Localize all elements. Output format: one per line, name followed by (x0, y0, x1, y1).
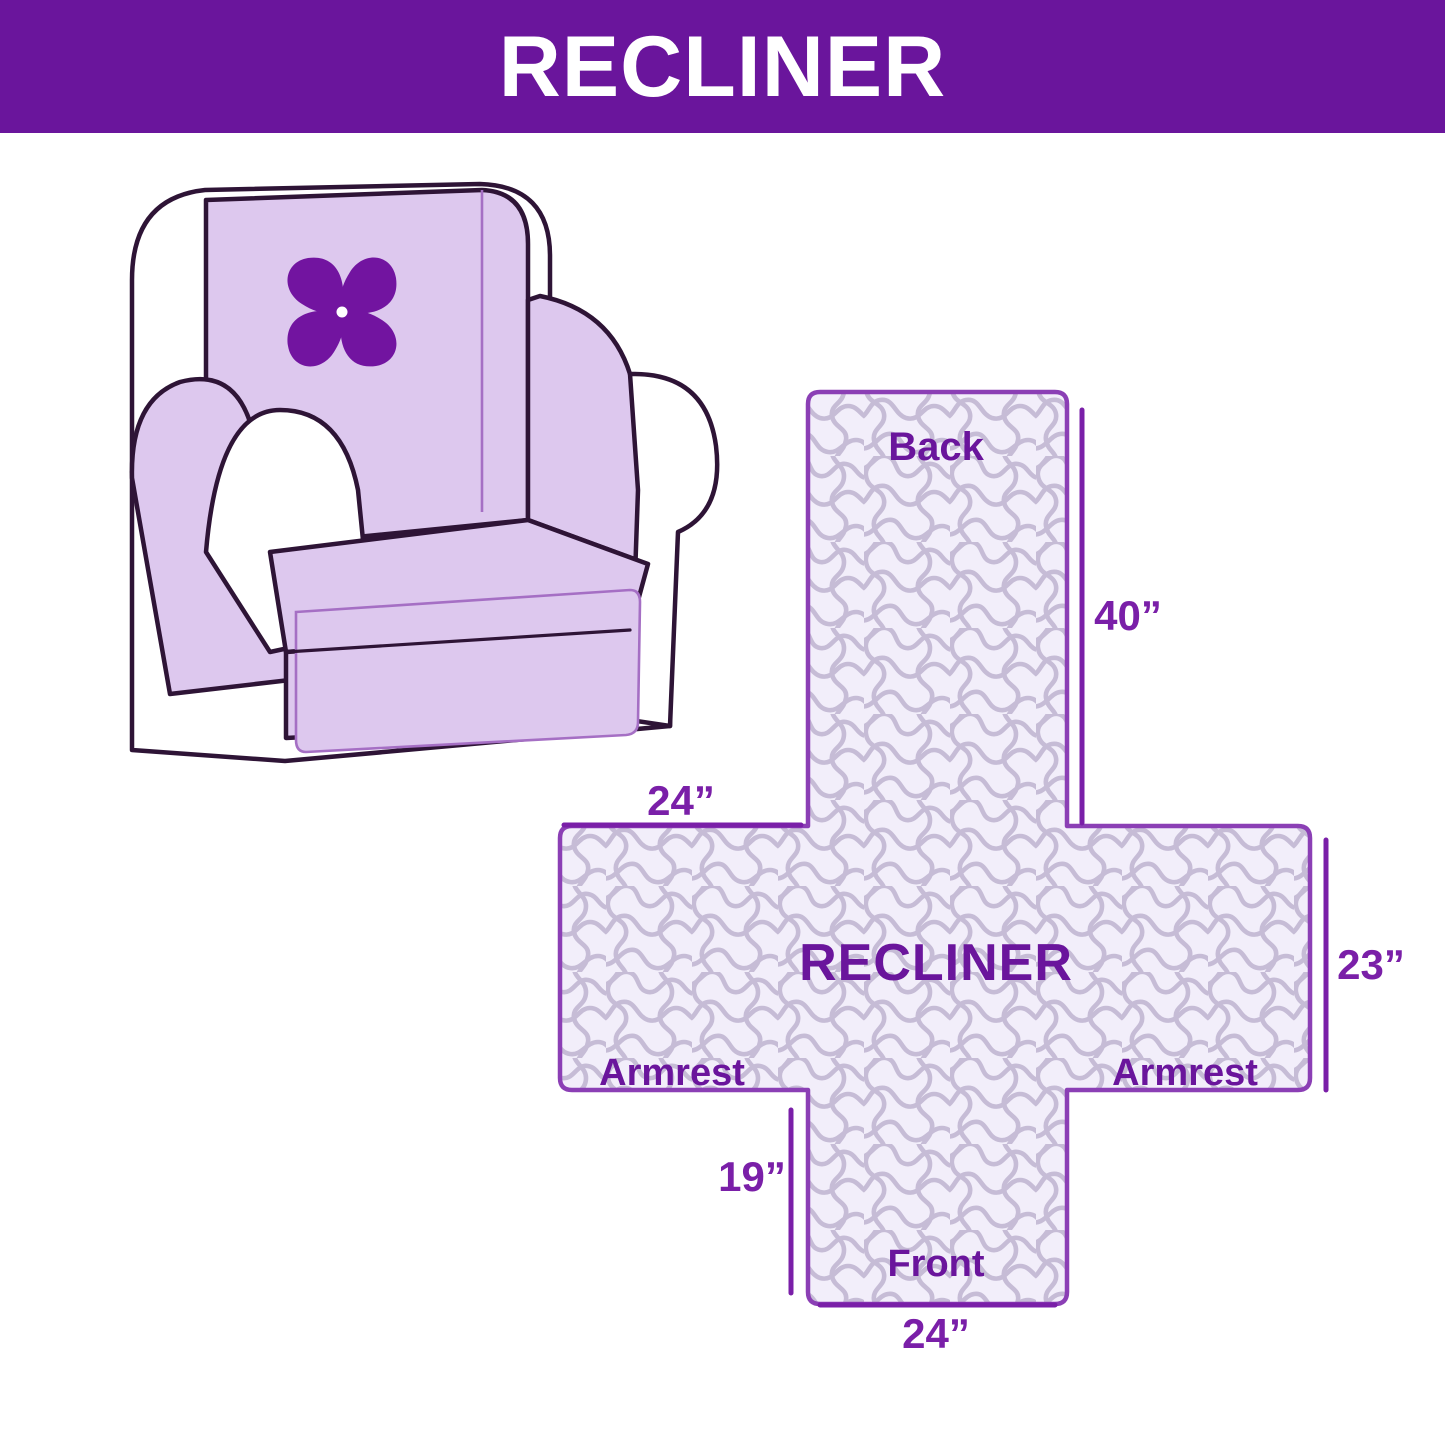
header-banner: RECLINER (0, 0, 1445, 133)
dimension-label-armrest-height: 23” (1337, 944, 1405, 986)
cross-pattern-svg (520, 370, 1445, 1390)
dimension-label-front-height: 19” (718, 1156, 786, 1198)
panel-label-front: Front (887, 1245, 984, 1283)
product-dimension-infographic: RECLINER .ol { fill:none; stroke:#2e1436… (0, 0, 1445, 1445)
panel-label-armrest-right: Armrest (1112, 1054, 1258, 1092)
cover-pattern-diagram (520, 370, 1445, 1390)
panel-label-armrest-left: Armrest (599, 1054, 745, 1092)
panel-label-back: Back (888, 427, 984, 467)
panel-label-recliner: RECLINER (799, 937, 1073, 989)
dimension-label-back-width: 24” (647, 780, 715, 822)
dimension-label-back-height: 40” (1094, 595, 1162, 637)
page-title: RECLINER (499, 24, 947, 110)
cross-cover-shape (560, 392, 1310, 1304)
dimension-label-front-width: 24” (902, 1313, 970, 1355)
